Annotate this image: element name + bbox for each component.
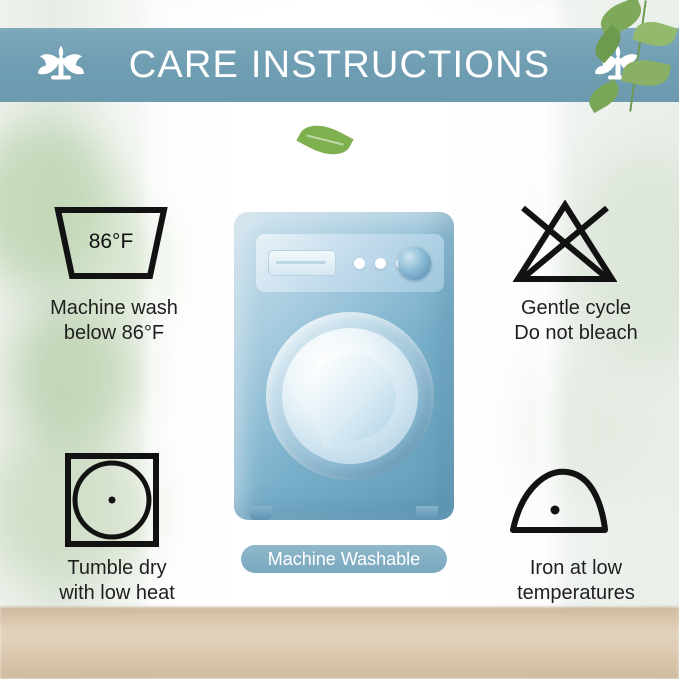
detergent-drawer [268,250,336,276]
machine-body [234,212,454,520]
header-banner: CARE INSTRUCTIONS [0,28,679,102]
wash-temperature-label: 86°F [54,230,168,254]
washing-machine-illustration [228,212,460,532]
iron-icon [505,460,613,542]
machine-door-glass [282,328,418,464]
door-highlight [299,343,407,451]
triangle-crossed-bleach-icon [513,200,617,284]
led-icon [375,258,386,269]
machine-wash-caption: Machine wash below 86°F [24,296,204,346]
machine-control-panel [256,234,444,292]
wash-basin-icon: 86°F [54,206,168,280]
page-title: CARE INSTRUCTIONS [129,44,551,87]
tumble-dry-square-circle-icon [64,452,160,548]
iron-caption: Iron at low temperatures [481,556,671,606]
program-dial-knob [398,247,431,280]
machine-foot [416,506,438,520]
tumble-dry-caption: Tumble dry with low heat [22,556,212,606]
care-instructions-card: CARE INSTRUCTIONS 86°F Machine wash belo… [0,0,679,679]
machine-door [266,312,434,480]
do-not-bleach-caption: Gentle cycle Do not bleach [481,296,671,346]
machine-washable-badge: Machine Washable [241,545,447,573]
machine-foot [250,506,272,520]
wooden-table-surface [0,607,679,679]
led-icon [354,258,365,269]
fleur-de-lis-icon [32,43,90,88]
